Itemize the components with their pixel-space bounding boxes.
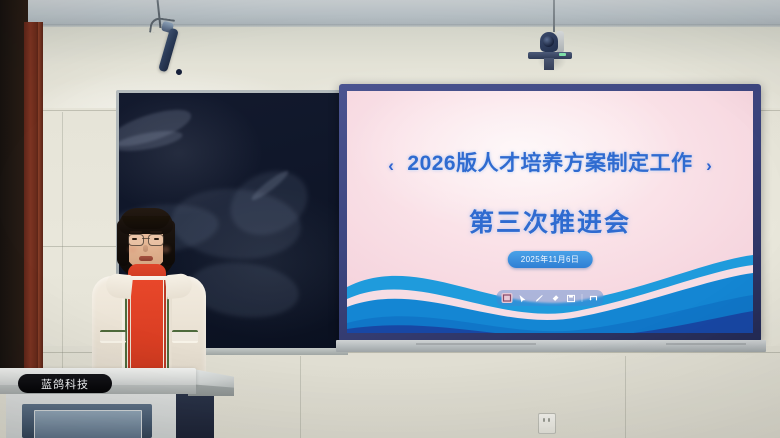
- rail-detail: [666, 343, 746, 345]
- undo-tool-icon[interactable]: [588, 293, 599, 303]
- camera-lens-icon: [543, 36, 554, 47]
- cheek-right: [161, 246, 170, 253]
- select-tool-icon[interactable]: [502, 293, 513, 303]
- eyebrow-left: [130, 231, 142, 233]
- camera-arm: [544, 58, 554, 70]
- screenshot-root: ‹ 2026版人才培养方案制定工作 › 第三次推进会 2025年11月6日: [0, 0, 780, 438]
- cardigan-pocket-right: [172, 330, 198, 343]
- slide-subtitle: 第三次推进会: [347, 203, 753, 239]
- wall-seam-vertical: [300, 356, 301, 438]
- toolbar-separator: [582, 294, 583, 302]
- annotation-toolbar[interactable]: [497, 290, 604, 306]
- eye-left: [132, 238, 137, 240]
- pen-tool-icon[interactable]: [534, 293, 545, 303]
- eraser-tool-icon[interactable]: [550, 293, 561, 303]
- lectern-nameplate: 蓝鸽科技: [18, 374, 112, 393]
- slide-title-row: ‹ 2026版人才培养方案制定工作 ›: [347, 147, 753, 177]
- cheek-left: [128, 246, 137, 253]
- lectern-control-panel[interactable]: [34, 410, 142, 438]
- wall-seam-vertical: [62, 112, 63, 374]
- chevron-left-icon: ‹: [388, 156, 394, 176]
- lens-right: [148, 234, 164, 246]
- nameplate-text: 蓝鸽科技: [41, 376, 89, 392]
- slide-wave-graphic: [347, 245, 753, 333]
- chevron-right-icon: ›: [706, 156, 712, 176]
- door-frame-wood-edge: [38, 22, 43, 378]
- pointer-tool-icon[interactable]: [518, 293, 529, 303]
- hair-fringe: [122, 216, 170, 229]
- presenter: [84, 204, 214, 394]
- lectern-side-shadow: [176, 394, 214, 438]
- display-mount-rail: [336, 340, 766, 352]
- presentation-slide: ‹ 2026版人才培养方案制定工作 › 第三次推进会 2025年11月6日: [347, 91, 753, 333]
- wall-display-screen[interactable]: ‹ 2026版人才培养方案制定工作 › 第三次推进会 2025年11月6日: [347, 91, 753, 333]
- lens-left: [128, 234, 144, 246]
- cardigan-pocket-left: [100, 330, 126, 343]
- slide-title: 2026版人才培养方案制定工作: [407, 147, 692, 177]
- mouth: [139, 256, 153, 261]
- eyebrow-right: [150, 231, 162, 233]
- socket-slot: [543, 418, 545, 422]
- wave-svg: [347, 245, 753, 333]
- wall-socket: [538, 413, 556, 434]
- socket-slot: [548, 418, 550, 422]
- save-tool-icon[interactable]: [566, 293, 577, 303]
- rail-detail: [416, 343, 536, 345]
- nose: [143, 245, 148, 252]
- camera-cable: [553, 0, 555, 32]
- ceiling: [0, 0, 780, 26]
- wall-seam-vertical: [625, 356, 626, 438]
- camera-status-led: [559, 53, 566, 56]
- eye-right: [154, 238, 159, 240]
